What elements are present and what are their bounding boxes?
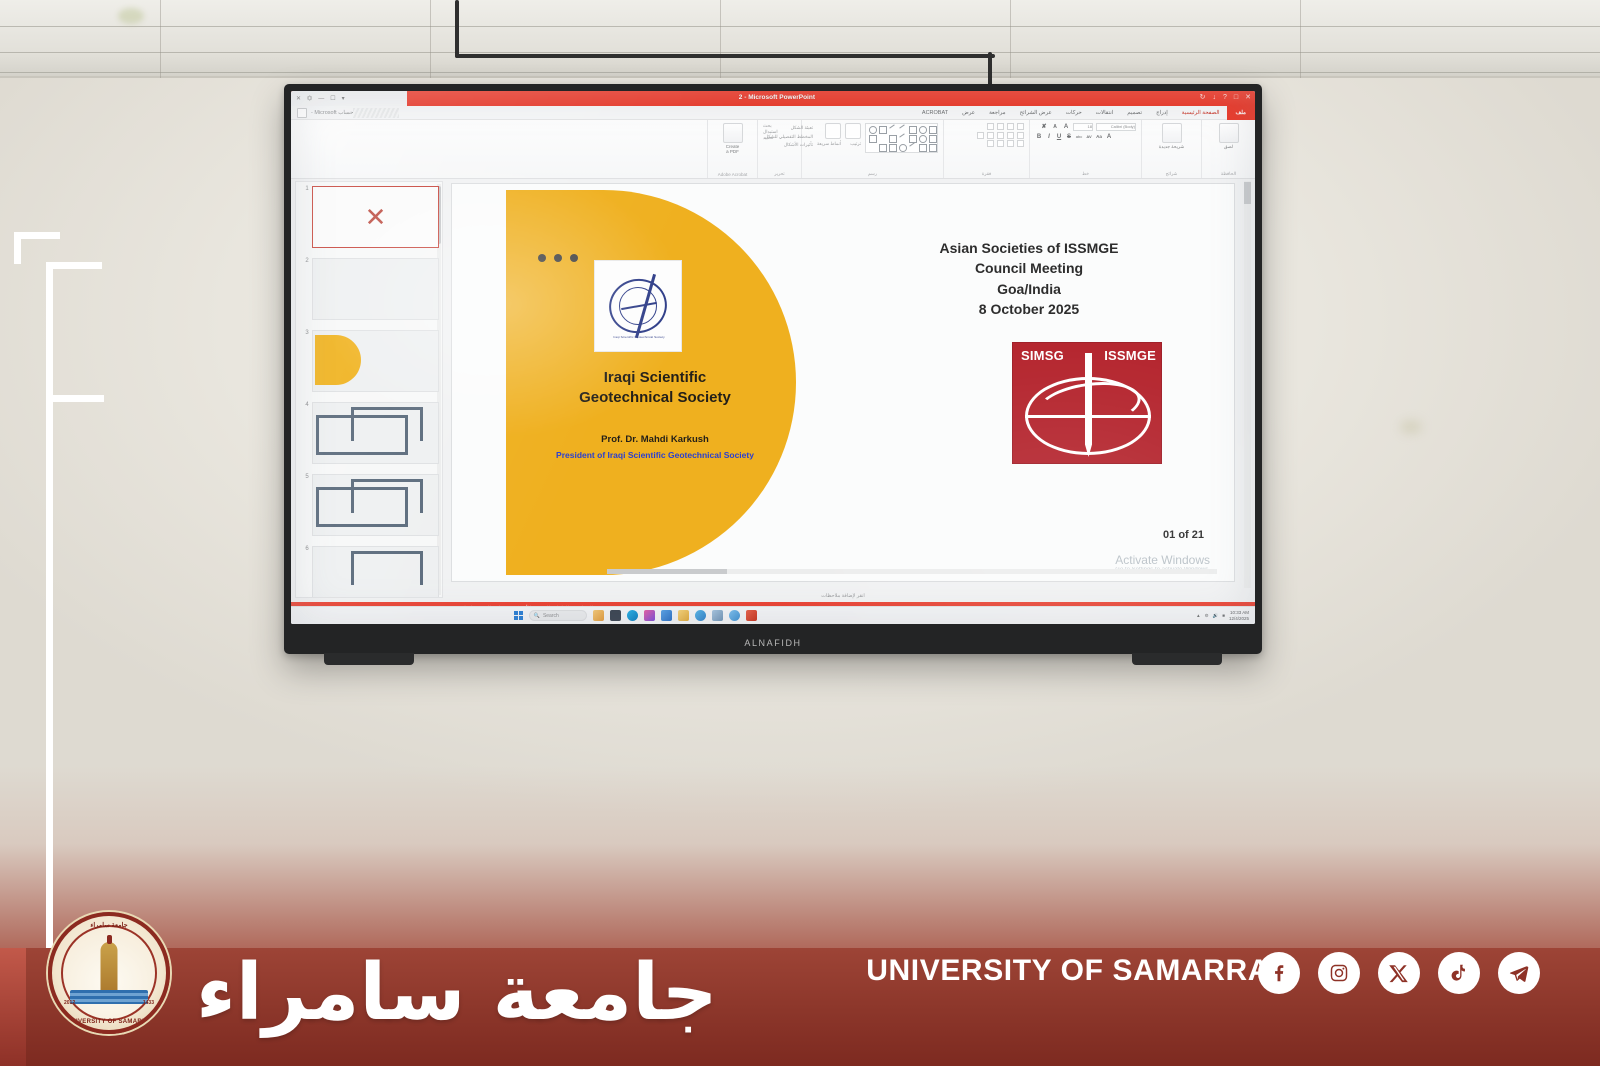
taskbar-search-box[interactable]: 🔍 Search [529,610,587,621]
isgs-logo: Iraqi Scientific Geotechnical Society [594,260,682,352]
chevron-down-icon[interactable]: ▾ [342,95,345,102]
justify-icon[interactable] [987,132,994,139]
presenter-role: President of Iraqi Scientific Geotechnic… [492,450,818,460]
group-label-acrobat: Adobe Acrobat [708,172,757,177]
powerpoint-work-area: 1 ✕ 2 3 [291,179,1255,602]
thumbnail-number-6: 6 [302,546,312,553]
tray-chevron-icon[interactable]: ▲ [1196,613,1200,618]
thumbnail-item-3[interactable]: 3 [296,326,442,398]
organization-name: Iraqi Scientific Geotechnical Society [510,368,800,409]
decorative-dots [538,254,578,262]
paste-label: لصق [1224,144,1233,149]
x-twitter-icon[interactable] [1378,952,1420,994]
power-cable-left [455,0,459,58]
screenshot-root: ALNAFIDH 2 - Microsoft PowerPoint ↻ ↓ ? … [0,0,1600,1066]
thumbnail-item-5[interactable]: 5 [296,470,442,542]
maximize-icon-left[interactable]: ☐ [330,95,335,102]
organization-line-1: Iraqi Scientific [510,368,800,388]
shape-donut-icon[interactable] [917,134,926,142]
meeting-title-line-2: Council Meeting [842,258,1216,278]
yellow-shape [315,335,361,385]
instagram-icon[interactable] [1318,952,1360,994]
tiktok-icon[interactable] [1438,952,1480,994]
tab-animations[interactable]: حركات [1059,106,1089,120]
group-label-paragraph: فقرة [944,171,1029,177]
taskbar-app-icons[interactable] [593,610,757,621]
clock-date: 12/4/2025 [1229,616,1249,622]
social-icons-row[interactable] [1258,952,1540,994]
thumbnail-number-5: 5 [302,474,312,481]
taskbar-icon-explorer[interactable] [593,610,604,621]
align-right-icon[interactable] [997,132,1004,139]
shape-arrow-icon[interactable] [887,125,896,133]
change-case-button[interactable]: Aa [1095,133,1103,141]
minimize-icon-left[interactable]: — [318,96,324,102]
tab-insert[interactable]: إدراج [1149,106,1175,120]
arrange-button[interactable] [845,123,861,139]
shape-brace-right-icon[interactable] [917,143,926,151]
clear-format-icon[interactable]: ✘ [1040,123,1048,131]
columns-icon[interactable] [1017,140,1024,147]
taskbar-icon-teams[interactable] [695,610,706,621]
text-direction-icon[interactable] [1007,140,1014,147]
tab-transitions[interactable]: انتقالات [1089,106,1121,120]
ribbon-group-drawing: ترتيب أنماط سريعة تعبئة الشكل المخطط الت… [801,120,943,178]
thumbnail-preview-6[interactable] [312,546,439,598]
tv-brand-label: ALNAFIDH [284,638,1262,648]
create-pdf-button[interactable] [723,123,743,143]
tab-file[interactable]: ملف [1227,106,1255,120]
paste-button[interactable] [1219,123,1239,143]
university-name-english: UNIVERSITY OF SAMARRA [866,954,1270,988]
slide-canvas-area: Iraqi Scientific Geotechnical Society Ir… [447,181,1239,588]
thumbnail-item-2[interactable]: 2 [296,254,442,326]
thumbnail-preview-4[interactable] [312,402,439,464]
slide-page-indicator: 01 of 21 [1163,529,1204,541]
current-slide[interactable]: Iraqi Scientific Geotechnical Society Ir… [451,183,1235,582]
taskbar-icon-powerpoint[interactable] [746,610,757,621]
font-name-box[interactable]: Calibri (Body) [1096,123,1136,131]
decor-step-2 [46,262,102,269]
university-name-arabic: جامعة سامراء [196,954,718,1032]
document-tab-strip [353,108,399,118]
account-avatar-icon[interactable] [297,108,307,118]
issmge-logo: SIMSG ISSMGE [1012,342,1162,464]
window-controls-right[interactable]: ↻ ↓ ? □ ✕ [1200,93,1251,101]
window-controls-left[interactable]: ✕ ⏣ — ☐ ▾ [291,91,407,106]
help-icon[interactable]: ? [1223,94,1227,101]
search-placeholder: Search [543,613,559,619]
ribbon-group-paragraph: فقرة [943,120,1029,178]
shape-rectangle-icon[interactable] [927,125,936,133]
shape-rounded-rect-icon[interactable] [907,125,916,133]
taskbar-icon-photos[interactable] [644,610,655,621]
group-label-clipboard: الحافظة [1202,171,1255,177]
notes-pane[interactable]: انقر لإضافة ملاحظات [447,590,1239,602]
taskbar-icon-settings[interactable] [712,610,723,621]
decor-vertical-2 [46,262,53,402]
tab-view[interactable]: عرض [955,106,982,120]
start-button-icon[interactable] [514,611,523,620]
underline-button[interactable]: U [1055,133,1063,141]
thumbnail-number-2: 2 [302,258,312,265]
taskbar-icon-chrome[interactable] [729,610,740,621]
wall-mark [1400,420,1422,434]
power-cable-span [455,54,995,58]
taskbar-system-tray[interactable]: ▲ ⚙ 🔊 ■ 10:33 AM 12/4/2025 [1196,610,1249,621]
issmge-logo-left-label: SIMSG [1021,348,1064,363]
shape-pentagon-icon[interactable] [927,134,936,142]
align-center-icon[interactable] [1007,132,1014,139]
group-label-editing: تحرير [758,171,801,177]
char-spacing-button[interactable]: AV [1085,133,1093,141]
shape-star-icon[interactable] [867,134,876,142]
taskbar-icon-store[interactable] [661,610,672,621]
taskbar-center-cluster: 🔍 Search [514,610,757,621]
isgs-logo-caption: Iraqi Scientific Geotechnical Society [611,335,667,339]
numbering-icon[interactable] [1007,123,1014,130]
search-icon: 🔍 [534,613,540,619]
taskbar-icon-folder[interactable] [678,610,689,621]
quick-styles-label: أنماط سريعة [817,141,841,147]
presenter-name: Prof. Dr. Mahdi Karkush [510,434,800,445]
arrange-label: ترتيب [845,141,861,147]
new-slide-button[interactable] [1162,123,1182,143]
shape-oval-icon[interactable] [917,125,926,133]
tray-battery-icon[interactable]: ■ [1222,613,1225,618]
thumbnail-preview-5[interactable] [312,474,439,536]
ribbon-group-acrobat: Create a PDF Adobe Acrobat [707,120,757,178]
horizontal-scrollbar[interactable] [607,569,1217,574]
thumbnail-item-1[interactable]: 1 ✕ [296,182,442,254]
ribbon-tab-strip[interactable]: ملف الصفحة الرئيسية إدراج تصميم انتقالات… [915,106,1255,120]
window-title: 2 - Microsoft PowerPoint [739,94,815,101]
tv-mount-left [324,653,414,665]
seal-water-icon [70,990,148,1004]
shape-line-icon[interactable] [897,125,906,133]
align-left-icon[interactable] [1017,132,1024,139]
tab-home[interactable]: الصفحة الرئيسية [1175,106,1227,120]
font-color-button[interactable]: A [1105,133,1113,141]
telegram-icon[interactable] [1498,952,1540,994]
shape-brace-left-icon[interactable] [927,143,936,151]
university-seal: جامعة سامراء 2012 1433 UNIVERSITY OF SAM… [48,912,170,1034]
frame-shape [316,415,408,455]
taskbar-clock[interactable]: 10:33 AM 12/4/2025 [1229,610,1249,621]
meeting-title: Asian Societies of ISSMGE Council Meetin… [842,238,1216,320]
vertical-scrollbar[interactable] [1244,181,1251,588]
decor-vertical-1 [14,232,21,264]
thumbnail-preview-2[interactable] [312,258,439,320]
thumbnail-number-4: 4 [302,402,312,409]
ribbon-group-slides: شريحة جديدة شرائح [1141,120,1201,178]
shape-banner-icon[interactable] [877,143,886,151]
thumbnail-preview-1[interactable]: ✕ [312,186,439,248]
shrink-font-icon[interactable]: A [1051,123,1059,131]
restore-icon[interactable]: ↻ [1200,93,1206,101]
clock-time: 10:33 AM [1229,610,1249,616]
tray-network-icon[interactable]: ⚙ [1205,613,1209,619]
create-pdf-label: Create a PDF [726,144,740,154]
shape-callout-icon[interactable] [887,134,896,142]
meeting-title-line-1: Asian Societies of ISSMGE [842,238,1216,258]
strikethrough-button[interactable]: S [1065,133,1073,141]
issmge-needle-shape [1085,353,1092,457]
thumbnail-number-3: 3 [302,330,312,337]
shape-arc-icon[interactable] [897,143,906,151]
shape-connector-icon[interactable] [897,134,906,142]
seal-year-right: 1433 [143,1000,154,1006]
taskbar-icon-terminal[interactable] [610,610,621,621]
taskbar-icon-edge[interactable] [627,610,638,621]
powerpoint-title-bar: 2 - Microsoft PowerPoint ↻ ↓ ? □ ✕ [291,91,1255,106]
shape-circle2-icon[interactable] [867,125,876,133]
text-shadow-button[interactable]: abc [1075,133,1083,141]
quick-styles-button[interactable] [825,123,841,139]
meeting-title-line-4: 8 October 2025 [842,299,1216,319]
frame-shape-5 [316,487,408,527]
line-spacing-icon[interactable] [977,132,984,139]
font-size-box[interactable]: 18 [1073,123,1093,131]
windows-taskbar: 🔍 Search [291,606,1255,624]
issmge-logo-right-label: ISSMGE [1104,348,1156,363]
decor-step-3 [46,395,104,402]
italic-button[interactable]: I [1045,133,1053,141]
tv-mount-right [1132,653,1222,665]
new-slide-label: شريحة جديدة [1159,144,1184,149]
thumbnail-preview-3[interactable] [312,330,439,392]
shape-box-icon[interactable] [877,125,886,133]
frame-shape-top-6 [351,551,423,585]
brand-left-accent [0,948,26,1066]
tab-design[interactable]: تصميم [1120,106,1149,120]
download-icon[interactable]: ↓ [1212,94,1216,101]
shape-chevron-icon[interactable] [907,134,916,142]
tray-volume-icon[interactable]: 🔊 [1213,613,1219,619]
bold-button[interactable]: B [1035,133,1043,141]
thumbnail-item-4[interactable]: 4 [296,398,442,470]
shape-tri2-icon[interactable] [867,143,876,151]
slide-thumbnail-pane[interactable]: 1 ✕ 2 3 [295,181,443,598]
ribbon-group-editing: بحث استبدال تحديد تحرير [757,120,801,178]
grow-font-icon[interactable]: A [1062,123,1070,131]
ribbon-body: لصق الحافظة شريحة جديدة شرائح Calibri (B… [291,120,1255,179]
account-label: - Microsoft حساب [311,110,353,116]
group-label-drawing: رسم [802,171,943,177]
decor-vertical-3 [46,395,53,955]
tab-acrobat[interactable]: ACROBAT [915,106,955,120]
group-label-slides: شرائح [1142,171,1201,177]
thumbnail-item-6[interactable]: 6 [296,542,442,598]
watermark-heading: Activate Windows [1115,554,1210,567]
maximize-icon[interactable]: □ [1234,94,1238,101]
red-x-mark-icon: ✕ [365,204,387,230]
powerpoint-window: 2 - Microsoft PowerPoint ↻ ↓ ? □ ✕ ✕ ⏣ —… [291,91,1255,624]
group-label-font: خط [1030,171,1141,177]
bullets-icon[interactable] [1017,123,1024,130]
seal-bottom-text: UNIVERSITY OF SAMARRA [52,1019,166,1025]
restore-icon-left[interactable]: ⏣ [307,95,312,102]
organization-line-2: Geotechnical Society [510,388,800,408]
meeting-title-line-3: Goa/India [842,279,1216,299]
ribbon-group-font: Calibri (Body) 18 A A ✘ B I U S abc [1029,120,1141,178]
outdent-icon[interactable] [987,123,994,130]
seal-year-left: 2012 [64,1000,75,1006]
tab-review[interactable]: مراجعة [982,106,1013,120]
power-cable-right [988,52,992,88]
close-icon-left[interactable]: ✕ [296,95,301,102]
shapes-gallery[interactable] [865,123,938,153]
ceiling-stain [118,8,144,24]
close-icon[interactable]: ✕ [1245,93,1251,101]
tv-screen: 2 - Microsoft PowerPoint ↻ ↓ ? □ ✕ ✕ ⏣ —… [291,91,1255,624]
shape-triangle-icon[interactable] [877,134,886,142]
select-label[interactable]: تحديد [763,135,773,141]
smartart-icon[interactable] [987,140,994,147]
thumbnail-number-1: 1 [302,186,312,193]
facebook-icon[interactable] [1258,952,1300,994]
tab-slideshow[interactable]: عرض الشرائح [1013,106,1059,120]
shape-curve-icon[interactable] [907,143,916,151]
seal-top-text: جامعة سامراء [52,921,166,929]
ceiling-panels [0,0,1600,78]
shape-flow-icon[interactable] [887,143,896,151]
indent-icon[interactable] [997,123,1004,130]
ribbon-group-clipboard: لصق الحافظة [1201,120,1255,178]
align-text-icon[interactable] [997,140,1004,147]
wall-mounted-tv: ALNAFIDH 2 - Microsoft PowerPoint ↻ ↓ ? … [284,84,1262,654]
